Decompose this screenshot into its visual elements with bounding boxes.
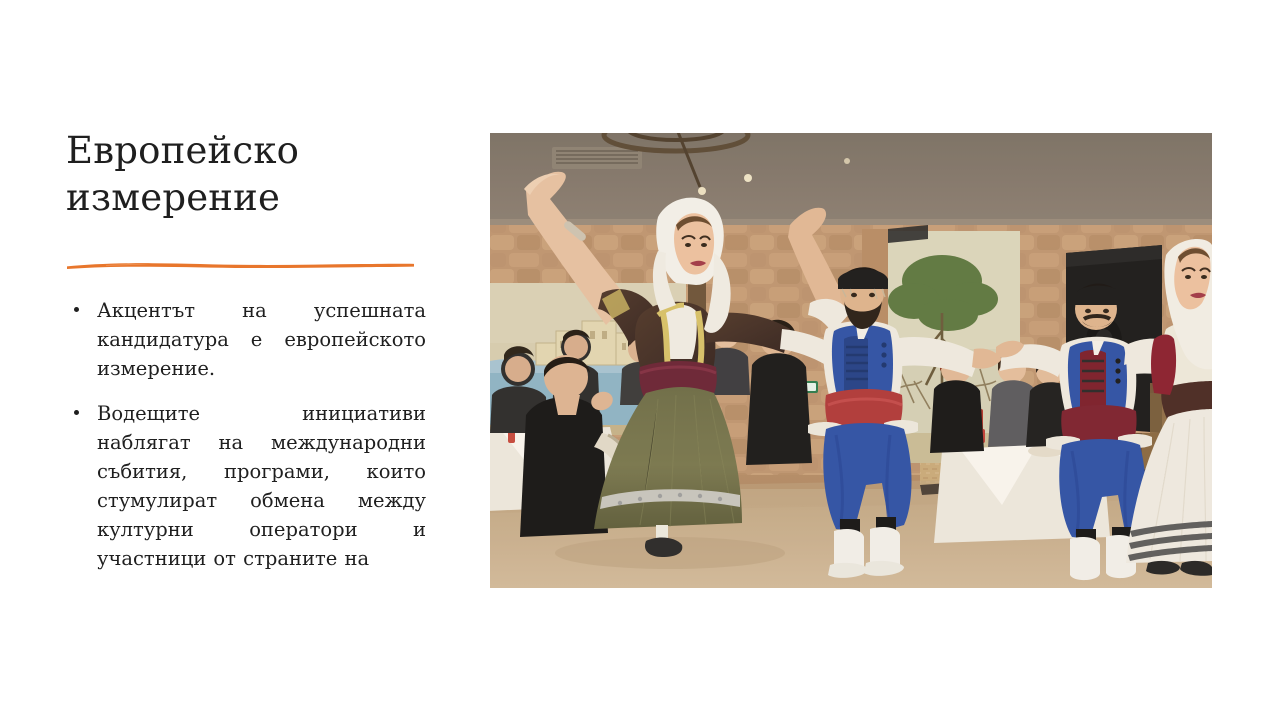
list-item: Водещите инициативи наблягат на междунар… xyxy=(66,399,426,573)
folk-dancers-photo xyxy=(490,133,1212,588)
list-item: Акцентът на успешната кандидатура е евро… xyxy=(66,296,426,383)
list-item-text: Акцентът на успешната кандидатура е евро… xyxy=(97,299,426,380)
presentation-slide: Европейско измерение Акцентът на успешна… xyxy=(0,0,1280,720)
page-title: Европейско измерение xyxy=(66,128,426,221)
bullet-dot-icon xyxy=(74,410,79,415)
bullet-list: Акцентът на успешната кандидатура е евро… xyxy=(66,296,426,573)
slide-text-column: Европейско измерение xyxy=(66,128,426,221)
slide-photo xyxy=(490,133,1212,588)
bullet-dot-icon xyxy=(74,307,79,312)
list-item-text: Водещите инициативи наблягат на междунар… xyxy=(97,402,426,570)
title-underline-brushstroke xyxy=(66,258,416,272)
